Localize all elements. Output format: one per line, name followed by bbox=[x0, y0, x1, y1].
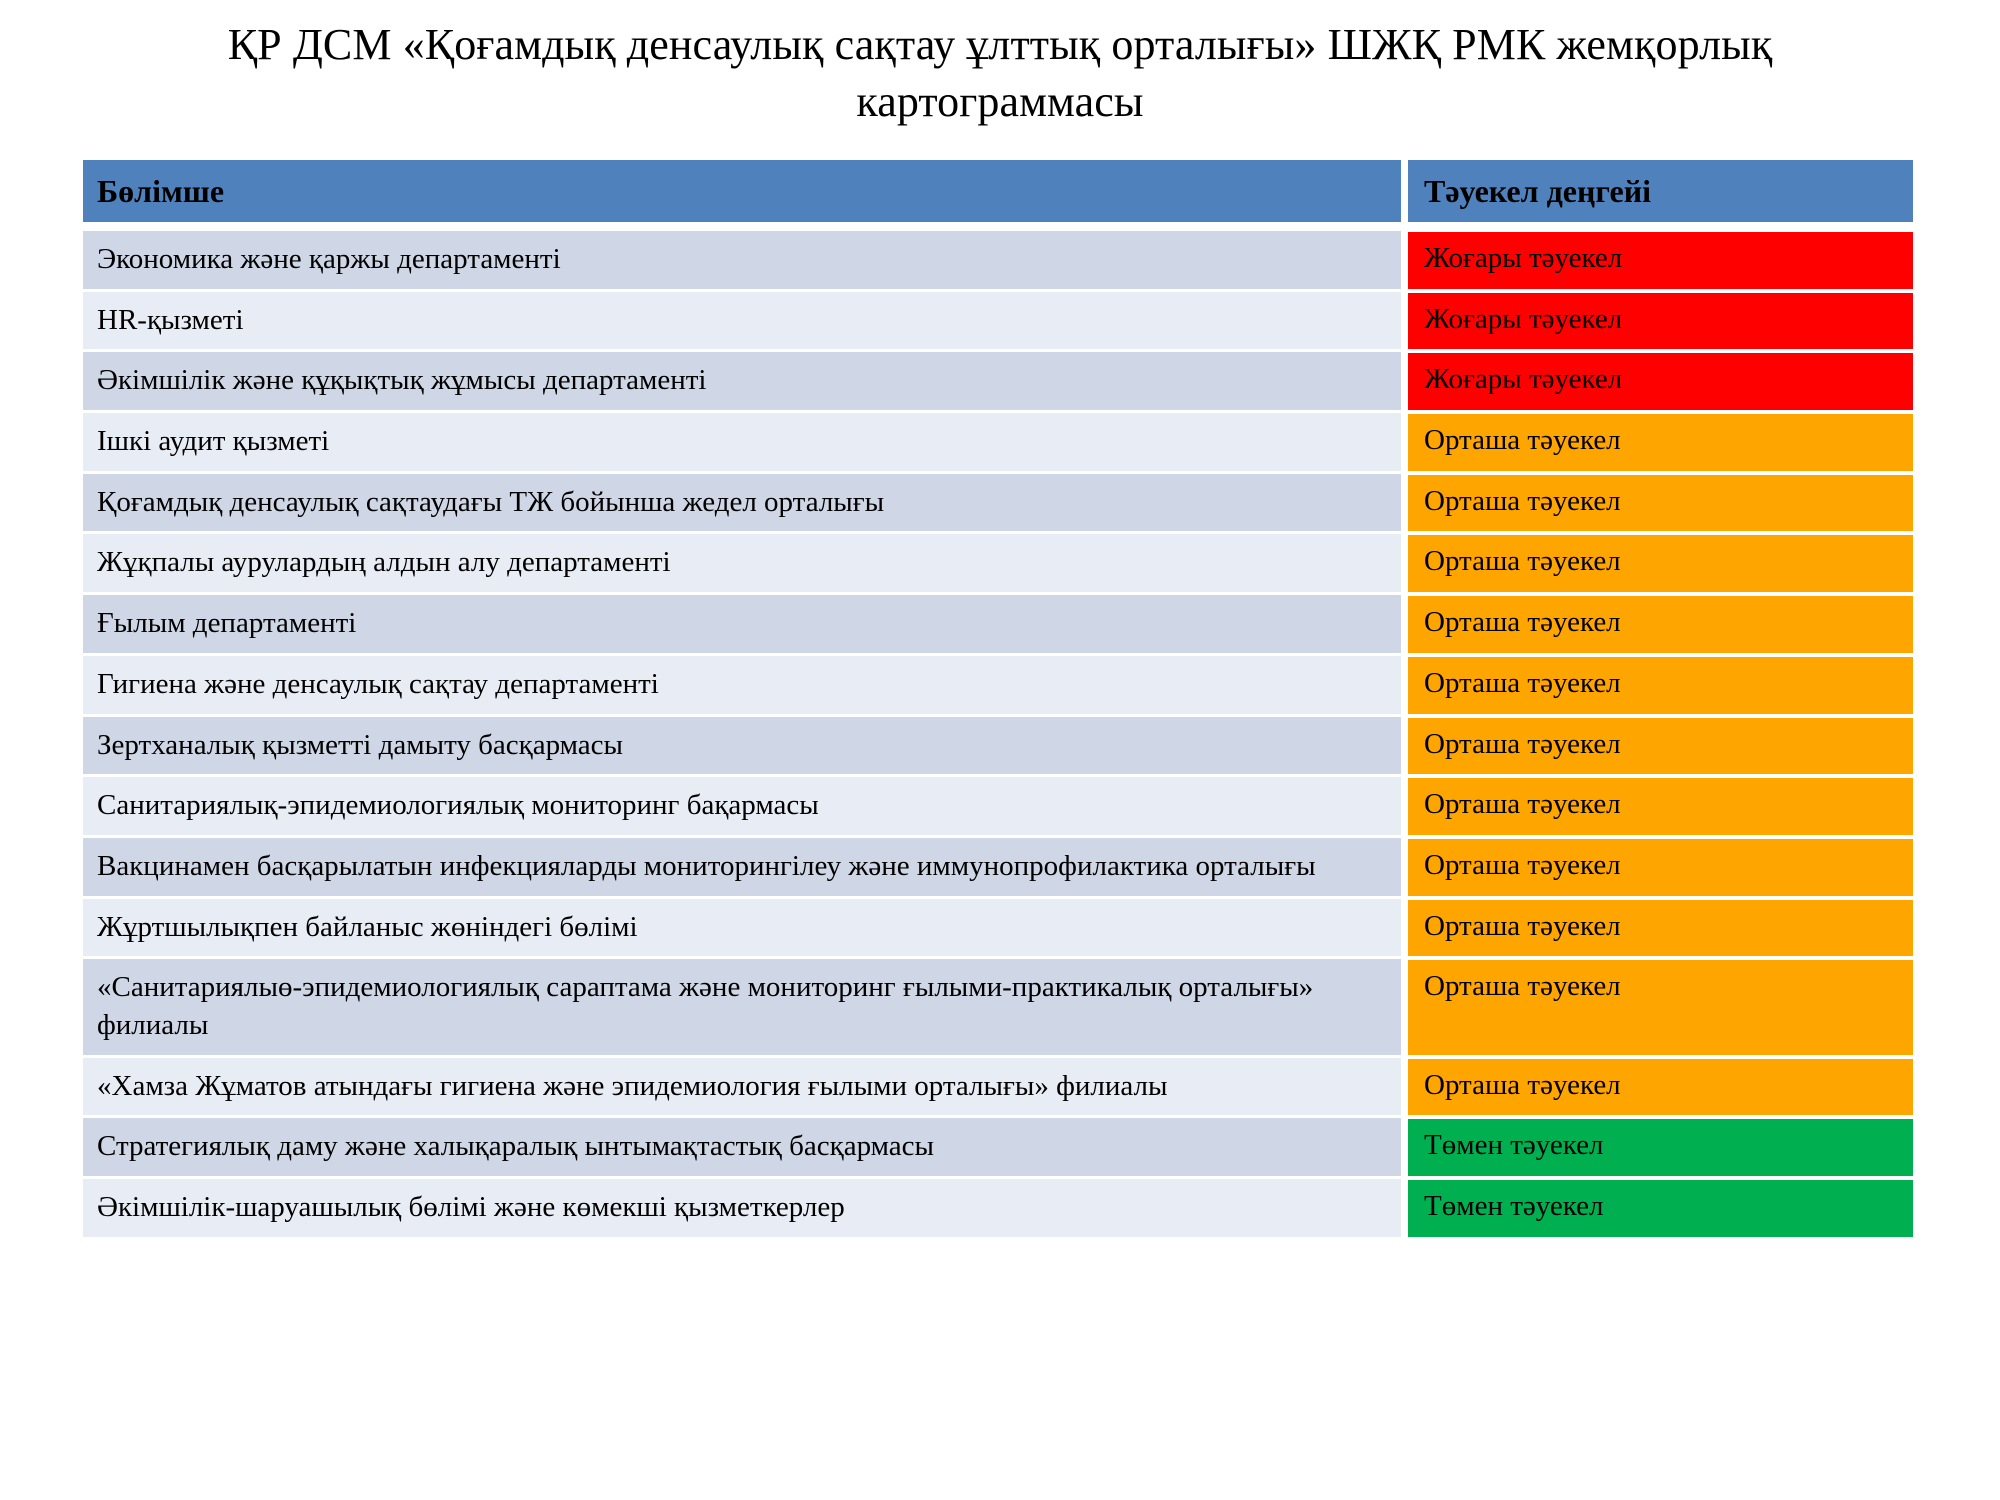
department-cell: Ішкі аудит қызметі bbox=[83, 410, 1401, 471]
table-row: Қоғамдық денсаулық сақтаудағы ТЖ бойынша… bbox=[83, 471, 1913, 532]
row-divider bbox=[1401, 653, 1408, 714]
department-cell: Вакцинамен басқарылатын инфекцияларды мо… bbox=[83, 835, 1401, 896]
department-cell: Гигиена және денсаулық сақтау департамен… bbox=[83, 653, 1401, 714]
table-header-row: Бөлімше Тәуекел деңгейі bbox=[83, 160, 1913, 222]
table-body: Экономика және қаржы департаментіЖоғары … bbox=[83, 222, 1913, 1237]
row-divider bbox=[1401, 410, 1408, 471]
row-divider bbox=[1401, 228, 1408, 289]
row-divider bbox=[1401, 289, 1408, 350]
row-divider bbox=[1401, 1176, 1408, 1237]
department-cell: Экономика және қаржы департаменті bbox=[83, 228, 1401, 289]
department-cell: Жұртшылықпен байланыс жөніндегі бөлімі bbox=[83, 896, 1401, 957]
risk-level-badge: Орташа тәуекел bbox=[1408, 653, 1913, 714]
cartogram-table-container: Бөлімше Тәуекел деңгейі Экономика және қ… bbox=[83, 160, 1913, 1237]
department-cell: Қоғамдық денсаулық сақтаудағы ТЖ бойынша… bbox=[83, 471, 1401, 532]
department-cell: «Санитариялыө-эпидемиологиялық сараптама… bbox=[83, 956, 1401, 1054]
department-cell: Әкімшілік-шаруашылық бөлімі және көмекші… bbox=[83, 1176, 1401, 1237]
table-row: Гигиена және денсаулық сақтау департамен… bbox=[83, 653, 1913, 714]
row-divider bbox=[1401, 835, 1408, 896]
table-row: Зертханалық қызметті дамыту басқармасыОр… bbox=[83, 714, 1913, 775]
table-row: «Хамза Жұматов атындағы гигиена және эпи… bbox=[83, 1055, 1913, 1116]
department-cell: Санитариялық-эпидемиологиялық мониторинг… bbox=[83, 774, 1401, 835]
slide-root: ҚР ДСМ «Қоғамдық денсаулық сақтау ұлттық… bbox=[0, 0, 2000, 1500]
table-row: Стратегиялық даму және халықаралық ынтым… bbox=[83, 1115, 1913, 1176]
department-cell: HR-қызметі bbox=[83, 289, 1401, 350]
table-row: Ғылым департаментіОрташа тәуекел bbox=[83, 592, 1913, 653]
risk-level-badge: Орташа тәуекел bbox=[1408, 956, 1913, 1054]
table-row: Ішкі аудит қызметіОрташа тәуекел bbox=[83, 410, 1913, 471]
department-cell: Зертханалық қызметті дамыту басқармасы bbox=[83, 714, 1401, 775]
department-cell: Жұқпалы аурулардың алдын алу департамент… bbox=[83, 531, 1401, 592]
row-divider bbox=[1401, 471, 1408, 532]
page-title: ҚР ДСМ «Қоғамдық денсаулық сақтау ұлттық… bbox=[0, 0, 2000, 130]
table-row: HR-қызметіЖоғары тәуекел bbox=[83, 289, 1913, 350]
column-header-divider bbox=[1401, 160, 1408, 222]
table-row: Жұқпалы аурулардың алдын алу департамент… bbox=[83, 531, 1913, 592]
department-cell: Әкімшілік және құқықтық жұмысы департаме… bbox=[83, 349, 1401, 410]
risk-level-badge: Орташа тәуекел bbox=[1408, 531, 1913, 592]
risk-level-badge: Жоғары тәуекел bbox=[1408, 228, 1913, 289]
table-row: Экономика және қаржы департаментіЖоғары … bbox=[83, 228, 1913, 289]
risk-level-badge: Орташа тәуекел bbox=[1408, 592, 1913, 653]
risk-level-badge: Орташа тәуекел bbox=[1408, 896, 1913, 957]
table-row: «Санитариялыө-эпидемиологиялық сараптама… bbox=[83, 956, 1913, 1054]
department-cell: Стратегиялық даму және халықаралық ынтым… bbox=[83, 1115, 1401, 1176]
department-cell: «Хамза Жұматов атындағы гигиена және эпи… bbox=[83, 1055, 1401, 1116]
row-divider bbox=[1401, 956, 1408, 1054]
risk-level-badge: Орташа тәуекел bbox=[1408, 774, 1913, 835]
row-divider bbox=[1401, 349, 1408, 410]
column-header-department: Бөлімше bbox=[83, 160, 1401, 222]
risk-level-badge: Жоғары тәуекел bbox=[1408, 289, 1913, 350]
risk-level-badge: Орташа тәуекел bbox=[1408, 714, 1913, 775]
row-divider bbox=[1401, 774, 1408, 835]
table-row: Әкімшілік-шаруашылық бөлімі және көмекші… bbox=[83, 1176, 1913, 1237]
row-divider bbox=[1401, 1115, 1408, 1176]
risk-level-badge: Жоғары тәуекел bbox=[1408, 349, 1913, 410]
table-header: Бөлімше Тәуекел деңгейі bbox=[83, 160, 1913, 222]
risk-level-badge: Орташа тәуекел bbox=[1408, 471, 1913, 532]
risk-level-badge: Төмен тәуекел bbox=[1408, 1115, 1913, 1176]
row-divider bbox=[1401, 896, 1408, 957]
risk-level-badge: Орташа тәуекел bbox=[1408, 835, 1913, 896]
department-cell: Ғылым департаменті bbox=[83, 592, 1401, 653]
risk-level-badge: Төмен тәуекел bbox=[1408, 1176, 1913, 1237]
table-row: Вакцинамен басқарылатын инфекцияларды мо… bbox=[83, 835, 1913, 896]
risk-cartogram-table: Бөлімше Тәуекел деңгейі Экономика және қ… bbox=[83, 160, 1913, 1237]
row-divider bbox=[1401, 531, 1408, 592]
table-row: Санитариялық-эпидемиологиялық мониторинг… bbox=[83, 774, 1913, 835]
column-header-risk-level: Тәуекел деңгейі bbox=[1408, 160, 1913, 222]
row-divider bbox=[1401, 592, 1408, 653]
table-row: Әкімшілік және құқықтық жұмысы департаме… bbox=[83, 349, 1913, 410]
row-divider bbox=[1401, 714, 1408, 775]
risk-level-badge: Орташа тәуекел bbox=[1408, 410, 1913, 471]
risk-level-badge: Орташа тәуекел bbox=[1408, 1055, 1913, 1116]
row-divider bbox=[1401, 1055, 1408, 1116]
table-row: Жұртшылықпен байланыс жөніндегі бөліміОр… bbox=[83, 896, 1913, 957]
